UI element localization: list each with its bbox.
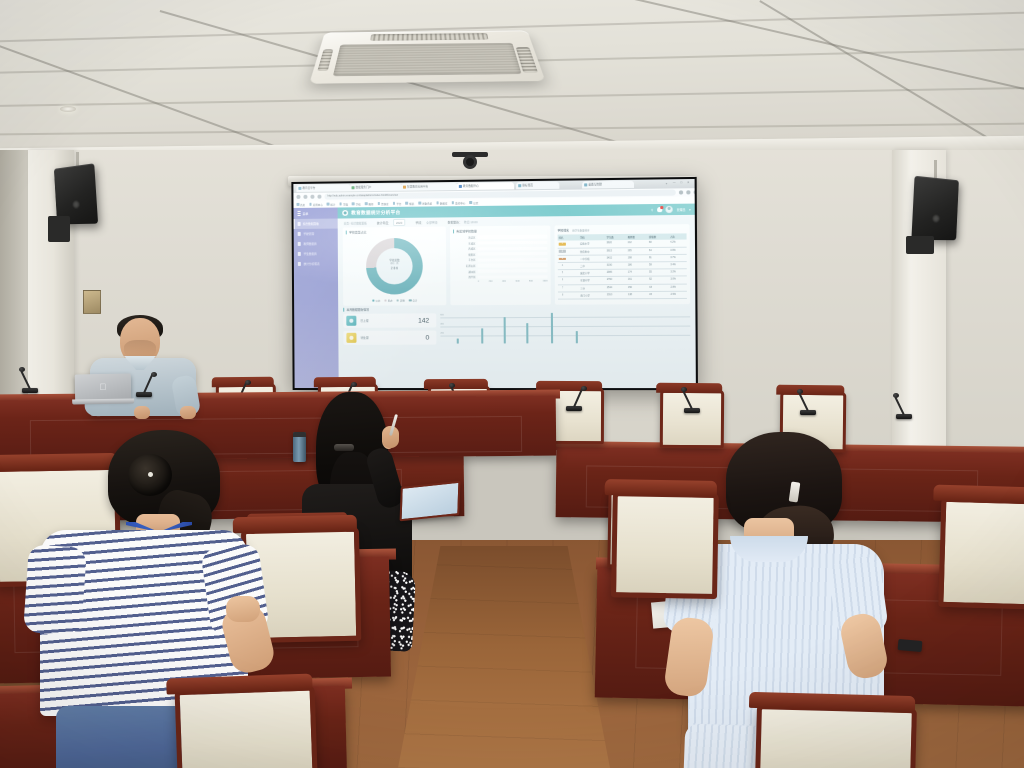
rank-badge: 7 <box>559 287 566 289</box>
kpi-label: 待处理 <box>360 336 368 340</box>
cell-teachers: 161 <box>627 276 648 283</box>
bar-track <box>478 246 548 250</box>
cell-teachers: 138 <box>627 291 648 298</box>
filter-year[interactable]: 统计年度： 2023 <box>377 219 406 226</box>
bookmark-icon <box>309 203 312 206</box>
bar-track <box>478 252 548 256</box>
sidebar-menu-toggle[interactable]: 菜单 <box>294 207 338 218</box>
bar-label: 海淀区 <box>453 235 475 239</box>
filter-label: 学段： <box>416 220 425 224</box>
chair-back <box>175 685 318 768</box>
teacher-icon <box>298 242 301 245</box>
bookmark-item[interactable]: 监控中心 <box>452 201 466 205</box>
legend-item[interactable]: 合计 <box>409 298 417 302</box>
bar-row: 石景山区 <box>453 263 547 268</box>
breadcrumb: 首页 / 综合数据面板 <box>344 221 367 225</box>
dashboard-widget-row: 学校类型占比 学校总数 单位：所 2 8 6 <box>338 224 696 306</box>
chart-tile-teal-icon <box>346 316 356 326</box>
bar-label: 东城区 <box>453 241 475 245</box>
recessed-downlight <box>60 106 76 112</box>
tab-label: 新标签页 <box>522 184 533 188</box>
cell-students: 2544 <box>606 284 627 291</box>
mic-head <box>681 387 687 392</box>
donut-chart-wrap: 学校总数 单位：所 2 8 6 <box>346 236 443 297</box>
bookmark-icon <box>339 203 342 206</box>
cell-teachers: 174 <box>627 269 648 276</box>
browser-tab-active[interactable]: 教育数据中心 <box>457 182 514 189</box>
mic-head <box>351 382 357 387</box>
legend-label: 公办 <box>375 299 380 303</box>
mic-head <box>581 386 587 391</box>
bookmark-icon <box>418 202 421 205</box>
legend-label: 合计 <box>412 298 417 302</box>
speaker-cone <box>932 214 941 223</box>
card-title: 学校排名 <box>558 228 570 232</box>
tablet-device[interactable] <box>400 481 461 522</box>
rank-badge: 8 <box>559 294 566 296</box>
speaker-bracket-right <box>906 236 934 254</box>
profile-icon[interactable] <box>686 190 690 194</box>
bookmark-icon <box>469 201 472 204</box>
legend-label: 其他 <box>400 298 405 302</box>
dashboard-sidebar: 菜单 综合数据面板 学校管理 教师数据库 <box>294 207 339 388</box>
speaker-bracket-left <box>48 216 70 242</box>
speaker-cone <box>72 199 81 208</box>
projected-browser-window: 教育云平台 数据服务门户 智慧教育应用平台 教育数据中心 新标签页 <box>293 179 696 388</box>
mic-head <box>797 389 803 394</box>
search-input[interactable]: ⚲ <box>651 208 653 212</box>
bookmark-item[interactable]: 学籍 <box>339 202 348 206</box>
donut-center-sub: 单位：所 <box>366 263 423 266</box>
legend-swatch <box>409 299 411 301</box>
cell-classes: 52 <box>648 276 669 283</box>
ceiling-cassette-air-conditioner <box>309 31 545 84</box>
tab-favicon <box>518 184 521 187</box>
region-school-bar-card: 各区域学校数量 海淀区 东城区 西城区 朝阳区 丰台区 石景山区 通州区 昌平区 <box>450 225 551 305</box>
cell-school: 三中 <box>579 284 606 291</box>
axis-tick: 800 <box>529 280 533 282</box>
tab-favicon <box>584 183 587 186</box>
cell-pct: 3.7% <box>669 254 686 261</box>
card-header: 学校类型占比 <box>346 230 443 235</box>
bar-track <box>478 235 548 239</box>
sidebar-menu-label: 菜单 <box>303 211 309 215</box>
cell-pct: 2.5% <box>669 291 686 298</box>
presenter-face-shading <box>124 340 156 358</box>
legend-item[interactable]: 其他 <box>397 298 405 302</box>
tab-label: 设置与管理 <box>588 183 601 187</box>
star-icon[interactable] <box>679 190 683 194</box>
bookmark-icon <box>452 201 455 204</box>
axis-tick: 200 <box>440 333 444 335</box>
kpi-value: 142 <box>418 317 433 324</box>
chair-crest <box>656 383 722 393</box>
bar-track <box>478 263 548 267</box>
kpi-label: 已上报 <box>360 319 368 323</box>
mic-head <box>449 383 455 388</box>
card-title: 各区域学校数量 <box>456 229 477 233</box>
bookmark-label: 首页 <box>300 202 305 206</box>
bar-row: 朝阳区 <box>453 252 547 257</box>
tab-favicon <box>352 186 355 189</box>
bookmark-item[interactable]: 公文 <box>469 200 478 204</box>
sidebar-item-students[interactable]: 学生数据库 <box>294 249 338 259</box>
filter-value: 2023 <box>393 219 405 226</box>
bar-label: 通州区 <box>453 269 475 273</box>
gooseneck-microphone[interactable] <box>684 408 700 413</box>
cell-teachers: 186 <box>627 262 648 269</box>
cell-pct: 3.0% <box>669 276 686 283</box>
kpi-column: 已上报 142 待处理 0 <box>343 313 436 345</box>
bar-label: 丰台区 <box>453 258 475 262</box>
avatar[interactable] <box>666 206 673 213</box>
kpi-card-reported[interactable]: 已上报 142 <box>343 313 436 327</box>
bookmark-label: 统计 <box>330 202 335 206</box>
bar-label: 朝阳区 <box>453 252 475 256</box>
browser-tab[interactable]: 设置与管理 <box>582 181 634 188</box>
bookmark-item[interactable]: 应用中心 <box>309 202 323 206</box>
sidebar-item-overview[interactable]: 综合数据面板 <box>294 219 338 229</box>
kpi-area: 已上报 142 待处理 0 <box>343 312 690 345</box>
bookmark-icon <box>436 202 439 205</box>
bookmark-item[interactable]: 首页 <box>296 202 305 206</box>
chair-crest <box>314 377 376 387</box>
legend-swatch <box>372 299 374 301</box>
bar-axis: 0 200 400 600 800 1000 <box>453 280 547 283</box>
bookmark-label: 数据库 <box>440 201 448 205</box>
tab-favicon <box>403 186 406 189</box>
hair-pin <box>148 472 153 477</box>
bookmark-item[interactable]: 平台 <box>393 201 402 205</box>
table-row[interactable]: 8 南门小学 2310 138 45 2.5% <box>558 291 687 299</box>
tab-favicon <box>298 187 301 190</box>
notification-badge <box>660 206 663 209</box>
kpi-section-title: 本月数据更新情况 <box>346 308 369 312</box>
reload-icon[interactable] <box>310 195 314 199</box>
attendee-left-hand <box>226 596 260 622</box>
presenter-hand-left <box>134 406 150 419</box>
donut-center-value: 2 8 6 <box>366 266 423 271</box>
ceiling <box>0 0 1024 172</box>
axis-tick: 400 <box>502 280 506 282</box>
ceiling-camera-icon <box>466 158 474 166</box>
sidebar-item-label: 统计分析报表 <box>304 262 320 266</box>
axis-tick: 200 <box>489 280 493 282</box>
tab-favicon <box>459 185 462 188</box>
sidebar-item-label: 综合数据面板 <box>303 222 319 226</box>
bar-row: 昌平区 <box>453 274 547 279</box>
bookmark-label: 资源库 <box>381 201 389 205</box>
kpi-value: 0 <box>426 334 434 341</box>
axis-tick: 600 <box>516 280 520 282</box>
chair-foreground[interactable] <box>755 704 907 768</box>
browser-tab[interactable]: 数据服务门户 <box>349 184 402 191</box>
new-tab-button[interactable]: + <box>666 181 668 185</box>
bookmark-label: 教师 <box>368 202 373 206</box>
bookmark-label: 平台 <box>396 201 401 205</box>
wall-plaque <box>83 290 101 314</box>
sidebar-item-schools[interactable]: 学校管理 <box>294 229 338 239</box>
bookmark-icon <box>296 203 299 206</box>
laptop-base <box>72 398 134 404</box>
bar-track <box>478 269 548 273</box>
legend-swatch <box>397 299 399 301</box>
bookmark-label: 应用中心 <box>313 202 323 206</box>
projection-screen: 教育云平台 数据服务门户 智慧教育应用平台 教育数据中心 新标签页 <box>291 177 698 390</box>
bookmark-icon <box>327 203 330 206</box>
bookmark-item[interactable]: 教师 <box>365 202 374 206</box>
legend-label: 民办 <box>388 298 393 302</box>
bookmark-icon <box>352 202 355 205</box>
bookmark-label: 报表 <box>409 201 414 205</box>
apple-logo-icon:  <box>99 383 107 392</box>
student-icon <box>298 252 301 255</box>
ranking-table: 排名 学校 学生数 教师数 班级数 占比 <box>558 233 687 299</box>
rank-badge: 1 <box>559 243 566 245</box>
sidebar-item-label: 教师数据库 <box>303 242 316 246</box>
bookmark-label: 学籍 <box>343 202 348 206</box>
chair-crest <box>424 379 488 389</box>
gridline <box>440 316 690 317</box>
bar-row: 东城区 <box>453 240 547 245</box>
filter-label: 数据更新： <box>448 220 462 224</box>
bar-label: 西城区 <box>453 247 475 251</box>
ceiling-panel-seam <box>0 121 1024 136</box>
filter-label: 统计年度： <box>377 220 391 224</box>
browser-tab[interactable]: 新标签页 <box>516 182 559 189</box>
school-ranking-table-card: 学校排名 按学生数量排序 排名 学校 学生数 教师数 <box>554 224 690 305</box>
attendee-left-sleeve-left <box>23 544 87 636</box>
bookmark-label: 监控中心 <box>455 201 465 205</box>
bookmark-item[interactable]: 数据库 <box>436 201 447 205</box>
legend-item[interactable]: 公办 <box>372 299 380 303</box>
cell-school: 南门小学 <box>579 291 606 298</box>
kpi-section-header: 本月数据更新情况 <box>343 306 690 312</box>
bookmark-item[interactable]: 学校 <box>352 202 361 206</box>
card-header: 学校排名 按学生数量排序 <box>558 227 687 232</box>
chair-foreground[interactable] <box>939 497 1024 599</box>
cell-pct: 3.2% <box>669 269 686 276</box>
legend-swatch <box>384 299 386 301</box>
chair-crest <box>933 485 1024 504</box>
bar-row: 西城区 <box>453 246 547 251</box>
cell-students: 2985 <box>606 269 627 276</box>
bookmark-icon <box>393 202 396 205</box>
tab-label: 数据服务门户 <box>356 186 372 190</box>
school-type-donut-card: 学校类型占比 学校总数 单位：所 2 8 6 <box>343 227 447 306</box>
header-accent-bar <box>346 230 347 234</box>
bar-track <box>478 275 548 279</box>
bar-label: 昌平区 <box>453 275 475 279</box>
gridline <box>440 326 690 327</box>
mic-head <box>893 393 899 398</box>
ceiling-panel-seam <box>0 85 1024 109</box>
bookmark-item[interactable]: 资源库 <box>377 201 388 205</box>
tab-label: 教育数据中心 <box>463 184 479 188</box>
spark-bar <box>551 313 553 343</box>
browser-tab[interactable]: 教育云平台 <box>296 184 350 191</box>
window-controls[interactable]: — □ ✕ <box>673 181 692 184</box>
cell-classes: 55 <box>648 269 669 276</box>
mic-head <box>245 380 251 385</box>
report-icon <box>298 262 301 265</box>
bar-row: 通州区 <box>453 269 547 274</box>
bar-label: 石景山区 <box>453 264 475 268</box>
wall-speaker-right <box>911 176 959 240</box>
forward-icon[interactable] <box>303 195 307 199</box>
bookmark-label: 考勤系统 <box>422 201 432 205</box>
axis-tick: 600 <box>440 314 444 316</box>
chair-back <box>755 704 917 768</box>
gooseneck-microphone[interactable] <box>896 414 912 419</box>
axis-tick: 0 <box>478 281 479 283</box>
mic-head <box>19 367 25 372</box>
bookmark-icon <box>365 202 368 205</box>
header-spacer <box>404 210 648 213</box>
donut-center-text: 学校总数 单位：所 2 8 6 <box>366 259 423 271</box>
rank-badge: 5 <box>559 272 566 274</box>
spark-bar <box>526 323 528 343</box>
filter-updated: 数据更新： 昨日 18:00 <box>448 220 478 224</box>
hamburger-icon <box>298 211 301 216</box>
bookmark-icon <box>377 202 380 205</box>
bookmark-item[interactable]: 考勤系统 <box>418 201 432 205</box>
chair-foreground[interactable] <box>175 686 308 768</box>
rank-badge: 6 <box>559 279 566 281</box>
back-icon[interactable] <box>296 195 300 199</box>
chair-back <box>611 491 719 599</box>
chair-back <box>938 497 1024 610</box>
bookmark-label: 公文 <box>473 200 478 204</box>
bar-track <box>478 241 548 245</box>
home-icon[interactable] <box>317 195 321 199</box>
donut-chart: 学校总数 单位：所 2 8 6 <box>366 238 423 295</box>
app-logo-icon <box>342 210 349 217</box>
spark-bar <box>576 331 578 343</box>
card-subtitle: 按学生数量排序 <box>572 228 589 232</box>
sidebar-item-label: 学校管理 <box>303 232 314 236</box>
macbook-laptop[interactable]:  <box>72 373 135 408</box>
cell-students: 2310 <box>606 291 627 298</box>
sidebar-item-label: 学生数据库 <box>303 252 316 256</box>
dashboard-app: 菜单 综合数据面板 学校管理 教师数据库 <box>294 204 696 389</box>
filter-stage[interactable]: 学段： 全部学段 <box>416 220 438 224</box>
bookmark-icon <box>405 202 408 205</box>
filter-value: 昨日 18:00 <box>464 220 478 224</box>
school-icon <box>298 232 301 235</box>
gooseneck-microphone[interactable] <box>136 392 152 397</box>
dashboard-icon <box>297 222 300 225</box>
header-accent-bar <box>343 308 344 312</box>
bar-row: 丰台区 <box>453 257 547 262</box>
donut-legend: 公办 民办 其他 合计 <box>346 298 443 303</box>
kpi-card-pending[interactable]: 待处理 0 <box>343 331 436 345</box>
rank-badge: 2 <box>559 250 566 252</box>
user-menu-label[interactable]: 管理员 <box>677 207 686 211</box>
dashboard-main: 教育数据统计分析平台 ⚲ 管理员 ▾ 首页 <box>338 204 696 389</box>
card-header: 各区域学校数量 <box>453 229 547 234</box>
bar-track <box>478 258 548 262</box>
filter-value: 全部学段 <box>426 220 437 224</box>
bookmark-label: 学校 <box>356 202 361 206</box>
presenter-hand-right <box>180 406 196 419</box>
cell-classes: 48 <box>648 284 669 291</box>
camera-mount-arm <box>452 152 488 157</box>
bookmark-item[interactable]: 报表 <box>405 201 414 205</box>
cell-pct: 2.8% <box>669 284 686 291</box>
app-title: 教育数据统计分析平台 <box>351 209 400 216</box>
menu-icon[interactable] <box>694 190 696 194</box>
bookmark-item[interactable]: 统计 <box>327 202 336 206</box>
header-accent-bar <box>453 229 454 233</box>
bar-row: 海淀区 <box>453 235 547 240</box>
cell-pct: 3.4% <box>669 261 686 268</box>
axis-tick: 1000 <box>543 280 548 282</box>
header-tools: ⚲ 管理员 ▾ <box>651 206 691 214</box>
gooseneck-microphone[interactable] <box>566 406 582 411</box>
gooseneck-microphone[interactable] <box>22 388 38 393</box>
cell-students: 2760 <box>606 277 627 284</box>
chair-crest <box>605 479 717 497</box>
cell-classes: 45 <box>648 291 669 298</box>
gridline <box>440 335 690 336</box>
cell-pct: 3.9% <box>669 247 686 255</box>
kpi-sparkline-chart: 600 400 200 <box>440 312 690 343</box>
ac-vent-top <box>370 33 488 41</box>
kpi-section: 本月数据更新情况 已上报 142 <box>338 304 695 345</box>
tab-label: 教育云平台 <box>302 186 315 190</box>
notification-bell-icon[interactable] <box>657 207 662 212</box>
axis-tick: 400 <box>440 323 444 325</box>
chevron-down-icon[interactable]: ▾ <box>689 207 690 211</box>
tab-label: 智慧教育应用平台 <box>407 185 428 189</box>
chair-foreground[interactable] <box>611 491 709 589</box>
cell-teachers: 150 <box>627 284 648 291</box>
hair-clip <box>334 444 354 451</box>
spark-bar <box>481 328 483 343</box>
browser-tab[interactable]: 智慧教育应用平台 <box>401 183 458 190</box>
sidebar-item-teachers[interactable]: 教师数据库 <box>294 239 338 249</box>
sidebar-item-reports[interactable]: 统计分析报表 <box>294 259 338 269</box>
rank-badge: 4 <box>559 265 566 267</box>
gooseneck-microphone[interactable] <box>800 410 816 415</box>
spark-bar <box>457 339 459 344</box>
conference-room-photo: 教育云平台 数据服务门户 智慧教育应用平台 教育数据中心 新标签页 <box>0 0 1024 768</box>
rank-badge: 3 <box>559 258 566 260</box>
card-title: 学校类型占比 <box>349 230 366 234</box>
legend-item[interactable]: 民办 <box>384 298 392 302</box>
chair-crest <box>776 385 844 396</box>
laptop-lid:  <box>75 374 131 401</box>
mic-head <box>151 372 157 377</box>
bar-chart: 海淀区 东城区 西城区 朝阳区 丰台区 石景山区 通州区 昌平区 <box>453 235 548 279</box>
spark-bar <box>504 317 506 343</box>
chart-tile-yellow-icon <box>346 333 356 343</box>
